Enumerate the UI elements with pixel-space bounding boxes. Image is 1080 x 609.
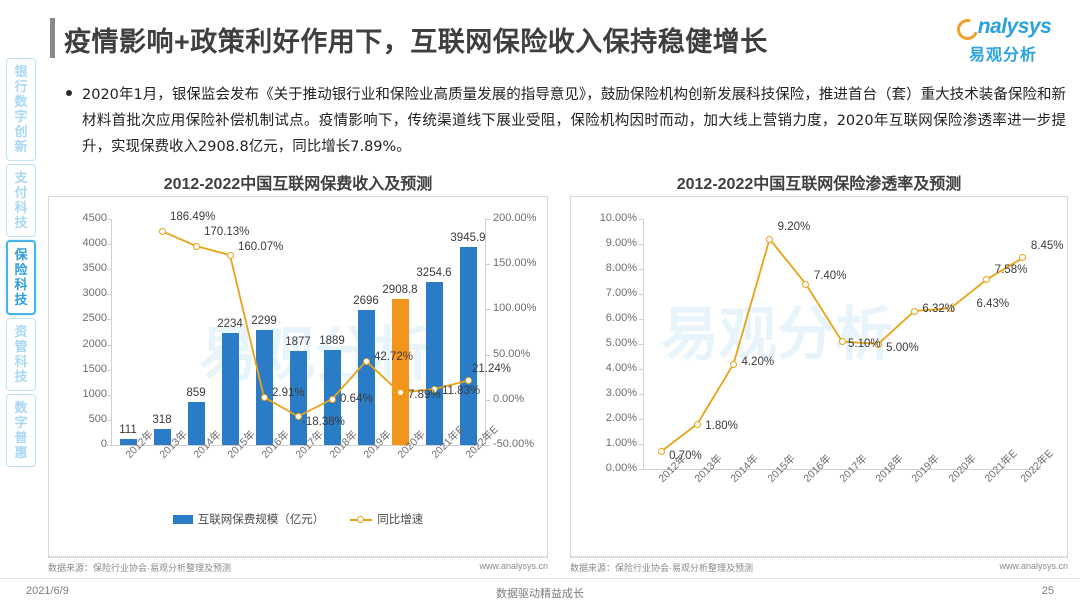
ytick-mark-5 <box>639 344 643 345</box>
ytick-mark-left-9 <box>107 219 111 220</box>
ytick-left-2: 1000 <box>67 388 107 400</box>
ytick-5: 5.00% <box>581 337 637 349</box>
source-url-left: www.analysys.cn <box>479 561 548 574</box>
xtick-2021年E: 2021年E <box>981 446 1021 486</box>
ytick-mark-3 <box>639 394 643 395</box>
penetration-point-2022年E <box>1019 254 1026 261</box>
ytick-10: 10.00% <box>581 212 637 224</box>
growth-point-2019年 <box>363 358 370 365</box>
ytick-2: 2.00% <box>581 412 637 424</box>
growth-label-2017年: -18.38% <box>302 416 345 428</box>
sidebar-item-char: 技 <box>7 215 35 230</box>
ytick-mark-6 <box>639 319 643 320</box>
penetration-label-2013年: 1.80% <box>705 420 738 432</box>
bar-label-2021年E: 3254.6 <box>404 267 464 279</box>
penetration-point-2014年 <box>730 361 737 368</box>
source-text-left: 数据来源：保险行业协会·易观分析整理及预测 <box>48 561 231 574</box>
source-note-left: 数据来源：保险行业协会·易观分析整理及预测 www.analysys.cn <box>48 556 548 574</box>
sidebar-item-char: 技 <box>7 369 35 384</box>
sidebar-item-char: 科 <box>7 354 35 369</box>
ytick-3: 3.00% <box>581 387 637 399</box>
legend-item-line: 同比增速 <box>350 511 423 527</box>
category-sidebar: 银行数字创新支付科技保险科技资管科技数字普惠 <box>6 58 40 470</box>
ytick-mark-right-3 <box>486 309 490 310</box>
growth-label-2016年: 2.91% <box>272 387 305 399</box>
sidebar-item-char: 惠 <box>7 445 35 460</box>
growth-label-2013年: 186.49% <box>170 211 215 223</box>
penetration-point-2016年 <box>802 281 809 288</box>
sidebar-item-char: 技 <box>8 292 34 307</box>
penetration-label-2021年E: 7.58% <box>995 264 1028 276</box>
chart-legend-premium: 互联网保费规模（亿元） 同比增速 <box>49 511 547 527</box>
ytick-mark-9 <box>639 244 643 245</box>
footer-page-number: 25 <box>1042 585 1054 597</box>
sidebar-item-0[interactable]: 银行数字创新 <box>6 58 36 161</box>
sidebar-item-2[interactable]: 保险科技 <box>6 240 36 315</box>
ytick-mark-right-2 <box>486 355 490 356</box>
penetration-label-2016年: 7.40% <box>814 270 847 282</box>
sidebar-item-char: 创 <box>7 124 35 139</box>
page-footer: 2021/6/9 数据驱动精益成长 25 <box>0 578 1080 609</box>
ytick-left-9: 4500 <box>67 212 107 224</box>
legend-bar-label: 互联网保费规模（亿元） <box>198 511 325 527</box>
ytick-4: 4.00% <box>581 362 637 374</box>
ytick-left-4: 2000 <box>67 338 107 350</box>
sidebar-item-char: 行 <box>7 79 35 94</box>
ytick-right-5: 200.00% <box>493 212 536 224</box>
penetration-point-2019年 <box>911 308 918 315</box>
ytick-mark-8 <box>639 269 643 270</box>
bar-2019年 <box>358 310 375 445</box>
growth-point-2013年 <box>159 228 166 235</box>
penetration-label-2014年: 4.20% <box>741 356 774 368</box>
ytick-left-1: 500 <box>67 413 107 425</box>
growth-point-2016年 <box>261 394 268 401</box>
chart-card-premium: 易观分析 05001000150020002500300035004000450… <box>48 196 548 558</box>
bar-label-2013年: 318 <box>132 414 192 426</box>
sidebar-item-char: 科 <box>7 200 35 215</box>
ytick-mark-0 <box>639 469 643 470</box>
analysys-logo: nalysys 易观分析 <box>944 12 1062 65</box>
chart-card-penetration: 易观分析 0.00%1.00%2.00%3.00%4.00%5.00%6.00%… <box>570 196 1068 558</box>
sidebar-item-char: 付 <box>7 185 35 200</box>
ytick-mark-left-4 <box>107 345 111 346</box>
growth-point-2020年 <box>397 389 404 396</box>
ytick-left-7: 3500 <box>67 262 107 274</box>
sidebar-item-3[interactable]: 资管科技 <box>6 318 36 391</box>
ytick-1: 1.00% <box>581 437 637 449</box>
ytick-mark-left-3 <box>107 370 111 371</box>
bar-2020年 <box>392 299 409 445</box>
bullet-dot-icon <box>66 82 82 160</box>
ytick-mark-right-5 <box>486 219 490 220</box>
penetration-label-2017年: 5.10% <box>848 338 881 350</box>
bar-2021年E <box>426 282 443 445</box>
page-title: 疫情影响+政策利好作用下，互联网保险收入保持稳健增长 <box>64 20 768 59</box>
ytick-right-2: 50.00% <box>493 348 530 360</box>
ytick-left-8: 4000 <box>67 237 107 249</box>
chart-title-premium: 2012-2022中国互联网保费收入及预测 <box>48 170 548 194</box>
penetration-label-2022年E: 8.45% <box>1031 240 1064 252</box>
ytick-8: 8.00% <box>581 262 637 274</box>
bar-label-2019年: 2696 <box>336 295 396 307</box>
penetration-point-2017年 <box>839 338 846 345</box>
growth-label-2019年: 42.72% <box>374 351 413 363</box>
ytick-0: 0.00% <box>581 462 637 474</box>
legend-bar-swatch <box>173 515 193 524</box>
logo-chinese-name: 易观分析 <box>944 41 1062 65</box>
ytick-mark-left-8 <box>107 244 111 245</box>
growth-point-2018年 <box>329 396 336 403</box>
sidebar-item-4[interactable]: 数字普惠 <box>6 394 36 467</box>
ytick-7: 7.00% <box>581 287 637 299</box>
penetration-point-2013年 <box>694 421 701 428</box>
sidebar-item-char: 新 <box>7 139 35 154</box>
ytick-right-4: 150.00% <box>493 257 536 269</box>
sidebar-item-char: 银 <box>7 64 35 79</box>
growth-label-2018年: 0.64% <box>340 393 373 405</box>
growth-point-2014年 <box>193 243 200 250</box>
sidebar-item-char: 科 <box>8 277 34 292</box>
ytick-left-5: 2500 <box>67 312 107 324</box>
sidebar-item-char: 字 <box>7 415 35 430</box>
sidebar-item-char: 字 <box>7 109 35 124</box>
bar-label-2014年: 859 <box>166 387 226 399</box>
ytick-right-1: 0.00% <box>493 393 524 405</box>
logo-arc-icon <box>955 16 977 38</box>
bar-label-2018年: 1889 <box>302 335 362 347</box>
bullet-paragraph: 2020年1月，银保监会发布《关于推动银行业和保险业高质量发展的指导意见》，鼓励… <box>82 82 1066 160</box>
growth-point-2017年 <box>295 413 302 420</box>
legend-line-label: 同比增速 <box>377 511 423 527</box>
ytick-left-6: 3000 <box>67 287 107 299</box>
growth-label-2014年: 170.13% <box>204 226 249 238</box>
key-insight-bullet: 2020年1月，银保监会发布《关于推动银行业和保险业高质量发展的指导意见》，鼓励… <box>66 82 1066 160</box>
bar-label-2022年E: 3945.9 <box>438 232 498 244</box>
ytick-6: 6.00% <box>581 312 637 324</box>
legend-line-swatch <box>350 515 372 524</box>
chart-plot-penetration: 0.00%1.00%2.00%3.00%4.00%5.00%6.00%7.00%… <box>571 197 1067 557</box>
penetration-label-2020年: 6.43% <box>977 298 1010 310</box>
source-text-right: 数据来源：保险行业协会·易观分析整理及预测 <box>570 561 753 574</box>
ytick-mark-left-2 <box>107 395 111 396</box>
penetration-label-2015年: 9.20% <box>778 221 811 233</box>
y-axis-left <box>111 219 112 446</box>
title-accent-bar <box>50 18 55 58</box>
chart-plot-premium: 050010001500200025003000350040004500-50.… <box>49 197 547 557</box>
penetration-label-2012年: 0.70% <box>669 450 702 462</box>
sidebar-item-char: 管 <box>7 339 35 354</box>
sidebar-item-char: 保 <box>8 247 34 262</box>
footer-slogan: 数据驱动精益成长 <box>0 585 1080 601</box>
ytick-mark-left-6 <box>107 294 111 295</box>
page-header: 疫情影响+政策利好作用下，互联网保险收入保持稳健增长 nalysys 易观分析 <box>0 0 1080 72</box>
ytick-mark-10 <box>639 219 643 220</box>
penetration-point-2021年E <box>983 276 990 283</box>
sidebar-item-char: 支 <box>7 170 35 185</box>
ytick-right-0: -50.00% <box>493 438 534 450</box>
ytick-mark-2 <box>639 419 643 420</box>
ytick-mark-left-0 <box>107 445 111 446</box>
growth-label-2015年: 160.07% <box>238 241 283 253</box>
sidebar-item-char: 数 <box>7 400 35 415</box>
growth-label-2021年E: 11.83% <box>442 385 480 397</box>
penetration-label-2018年: 5.00% <box>886 342 919 354</box>
source-note-right: 数据来源：保险行业协会·易观分析整理及预测 www.analysys.cn <box>570 556 1068 574</box>
growth-label-2020年: 7.89% <box>408 389 441 401</box>
penetration-point-2012年 <box>658 448 665 455</box>
growth-label-2022年E: 21.24% <box>472 363 511 375</box>
ytick-left-3: 1500 <box>67 363 107 375</box>
source-url-right: www.analysys.cn <box>999 561 1068 574</box>
ytick-mark-left-1 <box>107 420 111 421</box>
ytick-mark-7 <box>639 294 643 295</box>
sidebar-item-1[interactable]: 支付科技 <box>6 164 36 237</box>
ytick-mark-left-7 <box>107 269 111 270</box>
bar-label-2020年: 2908.8 <box>370 284 430 296</box>
legend-item-bar: 互联网保费规模（亿元） <box>173 511 325 527</box>
y-axis-right <box>485 219 486 446</box>
penetration-point-2015年 <box>766 236 773 243</box>
logo-wordmark: nalysys <box>978 15 1052 39</box>
ytick-mark-right-4 <box>486 264 490 265</box>
penetration-label-2019年: 6.32% <box>922 303 955 315</box>
growth-point-2022年E <box>465 377 472 384</box>
sidebar-item-char: 资 <box>7 324 35 339</box>
sidebar-item-char: 险 <box>8 262 34 277</box>
ytick-mark-4 <box>639 369 643 370</box>
bar-2022年E <box>460 247 477 445</box>
ytick-right-3: 100.00% <box>493 302 536 314</box>
bar-2015年 <box>222 333 239 445</box>
sidebar-item-char: 数 <box>7 94 35 109</box>
xtick-2022年E: 2022年E <box>1017 446 1057 486</box>
growth-point-2015年 <box>227 252 234 259</box>
ytick-mark-left-5 <box>107 319 111 320</box>
ytick-9: 9.00% <box>581 237 637 249</box>
chart-title-penetration: 2012-2022中国互联网保险渗透率及预测 <box>570 170 1068 194</box>
ytick-mark-1 <box>639 444 643 445</box>
penetration-line-path <box>571 197 1069 559</box>
ytick-mark-right-1 <box>486 400 490 401</box>
ytick-left-0: 0 <box>67 438 107 450</box>
bar-label-2016年: 2299 <box>234 315 294 327</box>
y-axis <box>643 219 644 470</box>
sidebar-item-char: 普 <box>7 430 35 445</box>
